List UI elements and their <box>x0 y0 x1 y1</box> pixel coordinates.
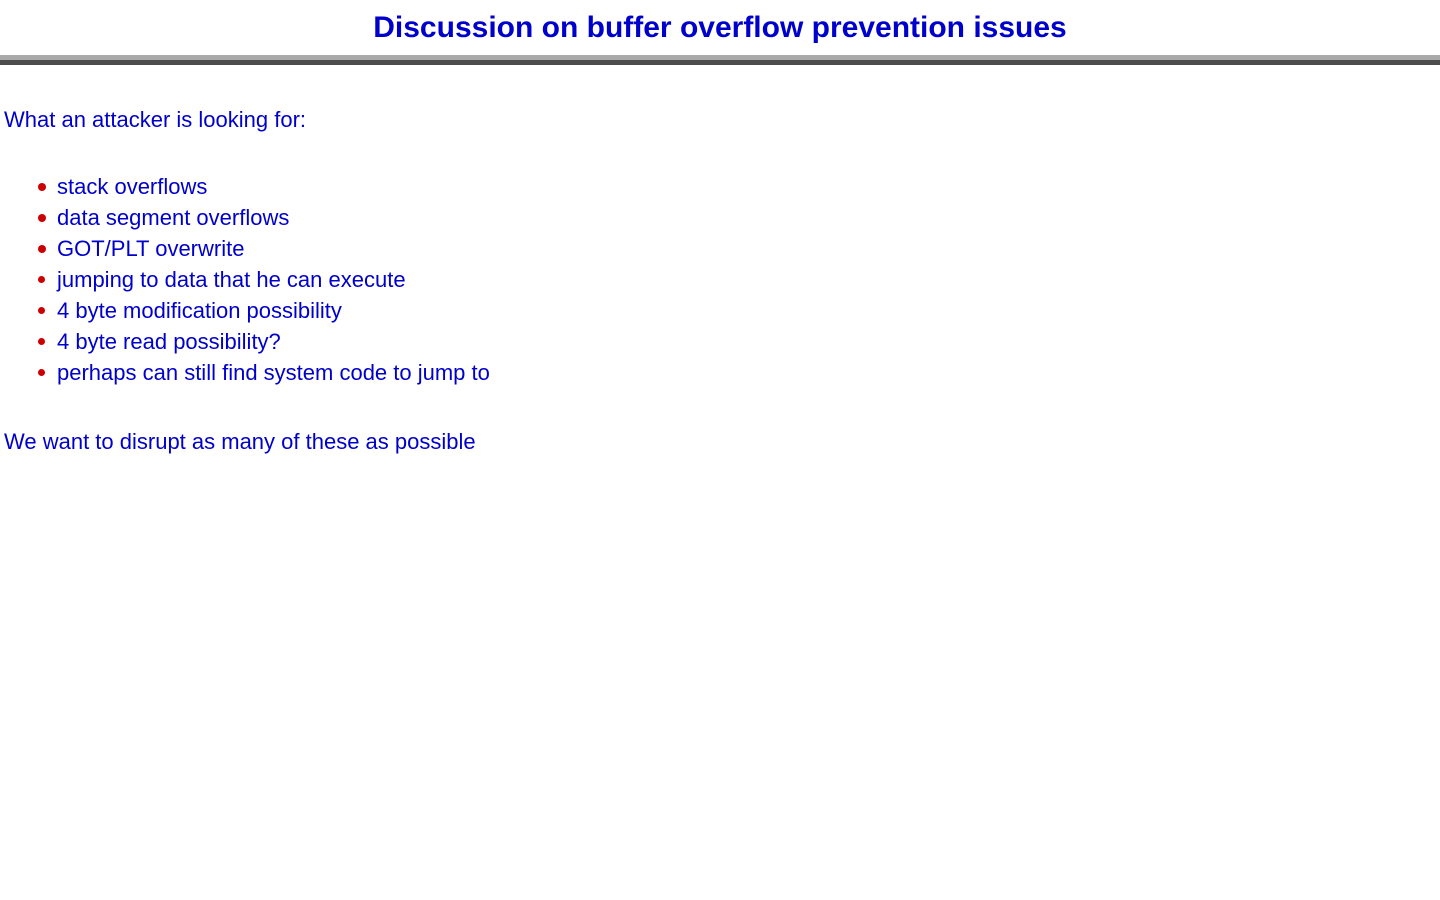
list-item-label: perhaps can still find system code to ju… <box>57 362 490 384</box>
list-item-label: GOT/PLT overwrite <box>57 238 244 260</box>
list-item-label: data segment overflows <box>57 207 289 229</box>
list-item: GOT/PLT overwrite <box>0 233 490 264</box>
list-item-label: jumping to data that he can execute <box>57 269 406 291</box>
presentation-slide: Discussion on buffer overflow prevention… <box>0 0 1440 900</box>
lead-text: What an attacker is looking for: <box>4 109 306 131</box>
title-divider <box>0 55 1440 65</box>
list-item-label: 4 byte read possibility? <box>57 331 281 353</box>
bullet-dot-icon <box>38 307 45 314</box>
closing-text: We want to disrupt as many of these as p… <box>4 431 476 453</box>
list-item: 4 byte read possibility? <box>0 326 490 357</box>
page-title: Discussion on buffer overflow prevention… <box>373 13 1066 43</box>
list-item-label: 4 byte modification possibility <box>57 300 342 322</box>
list-item: jumping to data that he can execute <box>0 264 490 295</box>
attacker-goals-list: stack overflows data segment overflows G… <box>0 171 490 388</box>
bullet-dot-icon <box>38 276 45 283</box>
slide-body: What an attacker is looking for: stack o… <box>0 65 1440 900</box>
list-item: data segment overflows <box>0 202 490 233</box>
list-item: stack overflows <box>0 171 490 202</box>
list-item-label: stack overflows <box>57 176 207 198</box>
bullet-dot-icon <box>38 183 46 191</box>
slide-title-bar: Discussion on buffer overflow prevention… <box>0 0 1440 55</box>
bullet-dot-icon <box>38 369 45 376</box>
bullet-dot-icon <box>38 214 46 222</box>
list-item: 4 byte modification possibility <box>0 295 490 326</box>
bullet-dot-icon <box>38 338 45 345</box>
list-item: perhaps can still find system code to ju… <box>0 357 490 388</box>
bullet-dot-icon <box>38 245 46 253</box>
